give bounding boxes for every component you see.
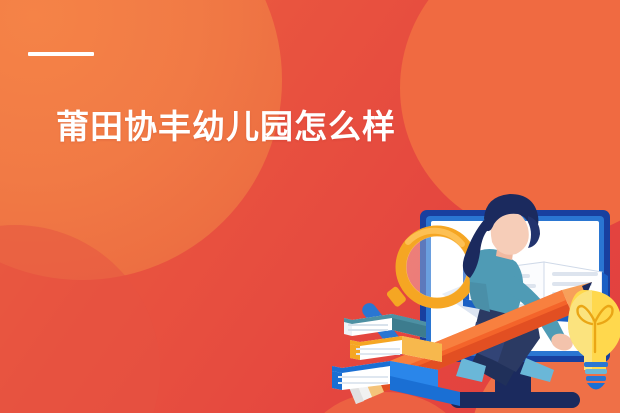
promo-banner: 莆田协丰幼儿园怎么样	[0, 0, 620, 413]
lightbulb	[568, 290, 620, 390]
lightbulb-base	[584, 362, 608, 390]
page-title: 莆田协丰幼儿园怎么样	[56, 106, 396, 147]
student-research-illustration	[330, 172, 620, 413]
accent-rule	[28, 52, 94, 56]
